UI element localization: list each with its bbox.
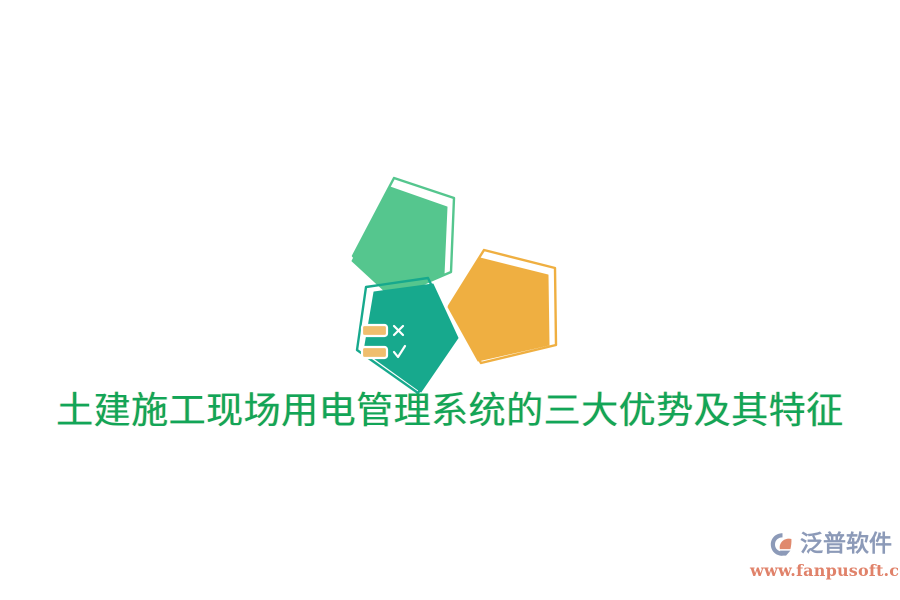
pentagon-cluster-illustration	[310, 165, 580, 400]
pentagon-right-orange	[448, 250, 556, 363]
brand-watermark: 泛普软件 www.fanpusoft.com	[750, 528, 892, 588]
checklist-option-bar-2	[362, 347, 387, 358]
pentagon-left-teal-body	[364, 284, 458, 392]
page-root: 土建施工现场用电管理系统的三大优势及其特征 泛普软件 www.fanpusoft…	[0, 0, 900, 600]
pentagon-top-green	[352, 178, 454, 297]
checklist-option-bar-1	[362, 325, 387, 336]
brand-lockup-row: 泛普软件	[750, 528, 892, 560]
brand-website-url: www.fanpusoft.com	[750, 561, 892, 580]
pentagon-right-orange-body	[448, 258, 549, 361]
fanpu-logo-icon	[769, 531, 796, 558]
brand-name-cn: 泛普软件	[800, 531, 892, 558]
